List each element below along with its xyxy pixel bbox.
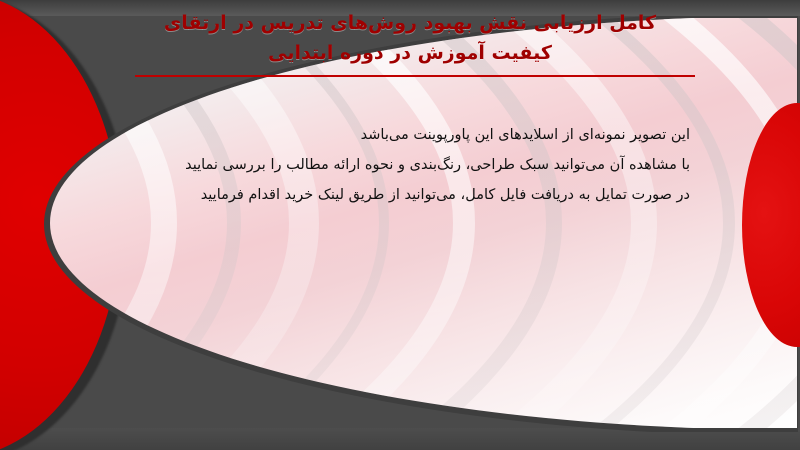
- content-panel: [44, 18, 797, 428]
- body-line-2: با مشاهده آن می‌توانید سبک طراحی، رنگ‌بن…: [90, 150, 690, 180]
- presentation-slide: کامل ارزیابی نقش بهبود روش‌های تدریس در …: [0, 0, 800, 450]
- slide-title-line-2: کیفیت آموزش در دوره ابتدایی: [110, 38, 710, 68]
- slide-title: کامل ارزیابی نقش بهبود روش‌های تدریس در …: [110, 8, 710, 68]
- title-underline-rule: [135, 75, 695, 77]
- slide-body-text: این تصویر نمونه‌ای از اسلایدهای این پاور…: [90, 120, 690, 210]
- body-line-3: در صورت تمایل به دریافت فایل کامل، می‌تو…: [90, 180, 690, 210]
- slide-title-line-1: کامل ارزیابی نقش بهبود روش‌های تدریس در …: [110, 8, 710, 38]
- body-line-1: این تصویر نمونه‌ای از اسلایدهای این پاور…: [90, 120, 690, 150]
- background-arcs-pattern: [44, 18, 797, 428]
